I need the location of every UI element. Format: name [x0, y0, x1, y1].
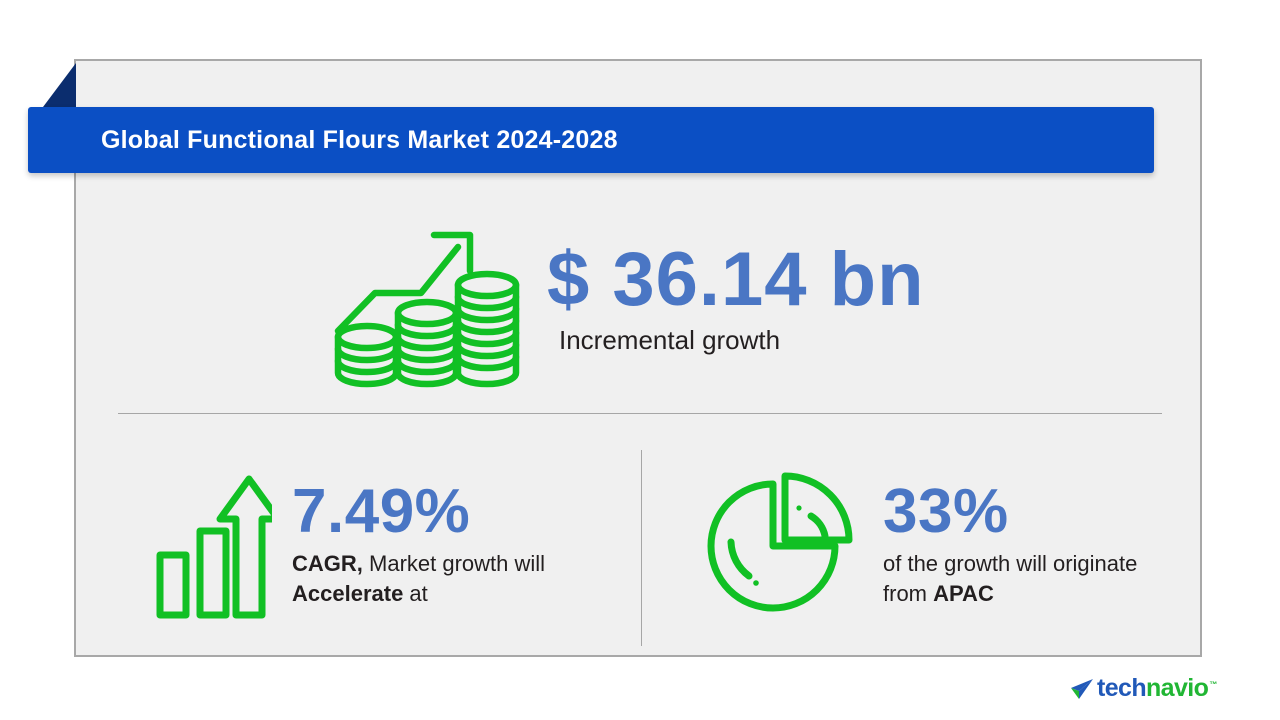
trademark-symbol: ™ [1209, 680, 1216, 689]
cagr-desc-text-1: Market growth will [363, 551, 545, 576]
region-share-value: 33% [883, 481, 1162, 543]
technavio-wordmark: technavio™ [1097, 676, 1217, 701]
cagr-value: 7.49% [292, 481, 592, 543]
coin-stacks-growth-icon [330, 213, 525, 393]
cagr-section: 7.49% CAGR, Market growth will Accelerat… [118, 437, 641, 652]
cagr-desc-text-2: at [403, 581, 427, 606]
region-desc-text: of the growth will originate from [883, 551, 1137, 605]
pie-chart-icon [707, 470, 855, 620]
title-banner: Global Functional Flours Market 2024-202… [28, 107, 1154, 173]
logo-text-tech: tech [1097, 674, 1146, 702]
region-desc-bold: APAC [933, 581, 994, 606]
cagr-description: CAGR, Market growth will Accelerate at [292, 549, 592, 608]
incremental-growth-text: $ 36.14 bn Incremental growth [547, 243, 925, 362]
incremental-growth-value: $ 36.14 bn [547, 243, 925, 317]
cagr-desc-bold-2: Accelerate [292, 581, 403, 606]
technavio-logo: technavio™ [1068, 676, 1217, 701]
logo-text-navio: navio [1146, 674, 1208, 702]
incremental-growth-section: $ 36.14 bn Incremental growth [115, 200, 1161, 405]
region-share-section: 33% of the growth will originate from AP… [641, 437, 1162, 652]
horizontal-divider [118, 413, 1162, 414]
cagr-desc-bold-1: CAGR, [292, 551, 363, 576]
incremental-growth-caption: Incremental growth [559, 325, 925, 356]
page-title: Global Functional Flours Market 2024-202… [101, 126, 618, 155]
cagr-text: 7.49% CAGR, Market growth will Accelerat… [292, 481, 592, 608]
technavio-arrow-icon [1068, 677, 1094, 701]
region-share-description: of the growth will originate from APAC [883, 549, 1162, 608]
ribbon-fold-decoration [40, 63, 76, 111]
bar-chart-up-arrow-icon [156, 471, 272, 619]
region-share-text: 33% of the growth will originate from AP… [883, 481, 1162, 608]
bottom-stats-row: 7.49% CAGR, Market growth will Accelerat… [118, 437, 1162, 652]
infographic-canvas: Global Functional Flours Market 2024-202… [0, 0, 1280, 720]
